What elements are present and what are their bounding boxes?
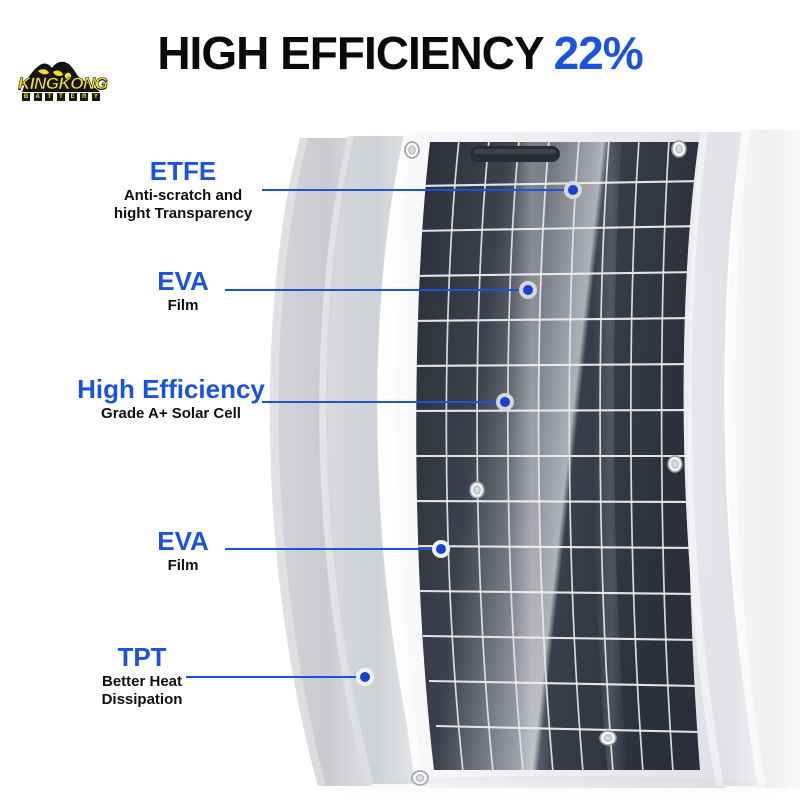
callout-high-efficiency-title: High Efficiency [26,376,316,403]
callout-etfe: ETFE Anti-scratch and hight Transparency [78,158,288,223]
callout-eva-bottom-title: EVA [108,528,258,555]
callout-etfe-subtitle: Anti-scratch and hight Transparency [78,187,288,222]
callout-high-efficiency-subtitle: Grade A+ Solar Cell [26,405,316,423]
callout-tpt-subtitle: Better Heat Dissipation [58,673,226,708]
callout-tpt: TPT Better Heat Dissipation [58,644,226,709]
callout-eva-top-subtitle: Film [108,297,258,315]
callout-high-efficiency: High Efficiency Grade A+ Solar Cell [26,376,316,423]
callout-etfe-title: ETFE [78,158,288,185]
callout-tpt-title: TPT [58,644,226,671]
callout-eva-top-title: EVA [108,268,258,295]
infographic-page: KINGKONG B A T T E R Y HIGH EFFICIENCY22… [0,0,800,800]
callout-eva-top: EVA Film [108,268,258,315]
callout-eva-bottom-subtitle: Film [108,557,258,575]
callout-dots [356,181,582,686]
callout-eva-bottom: EVA Film [108,528,258,575]
